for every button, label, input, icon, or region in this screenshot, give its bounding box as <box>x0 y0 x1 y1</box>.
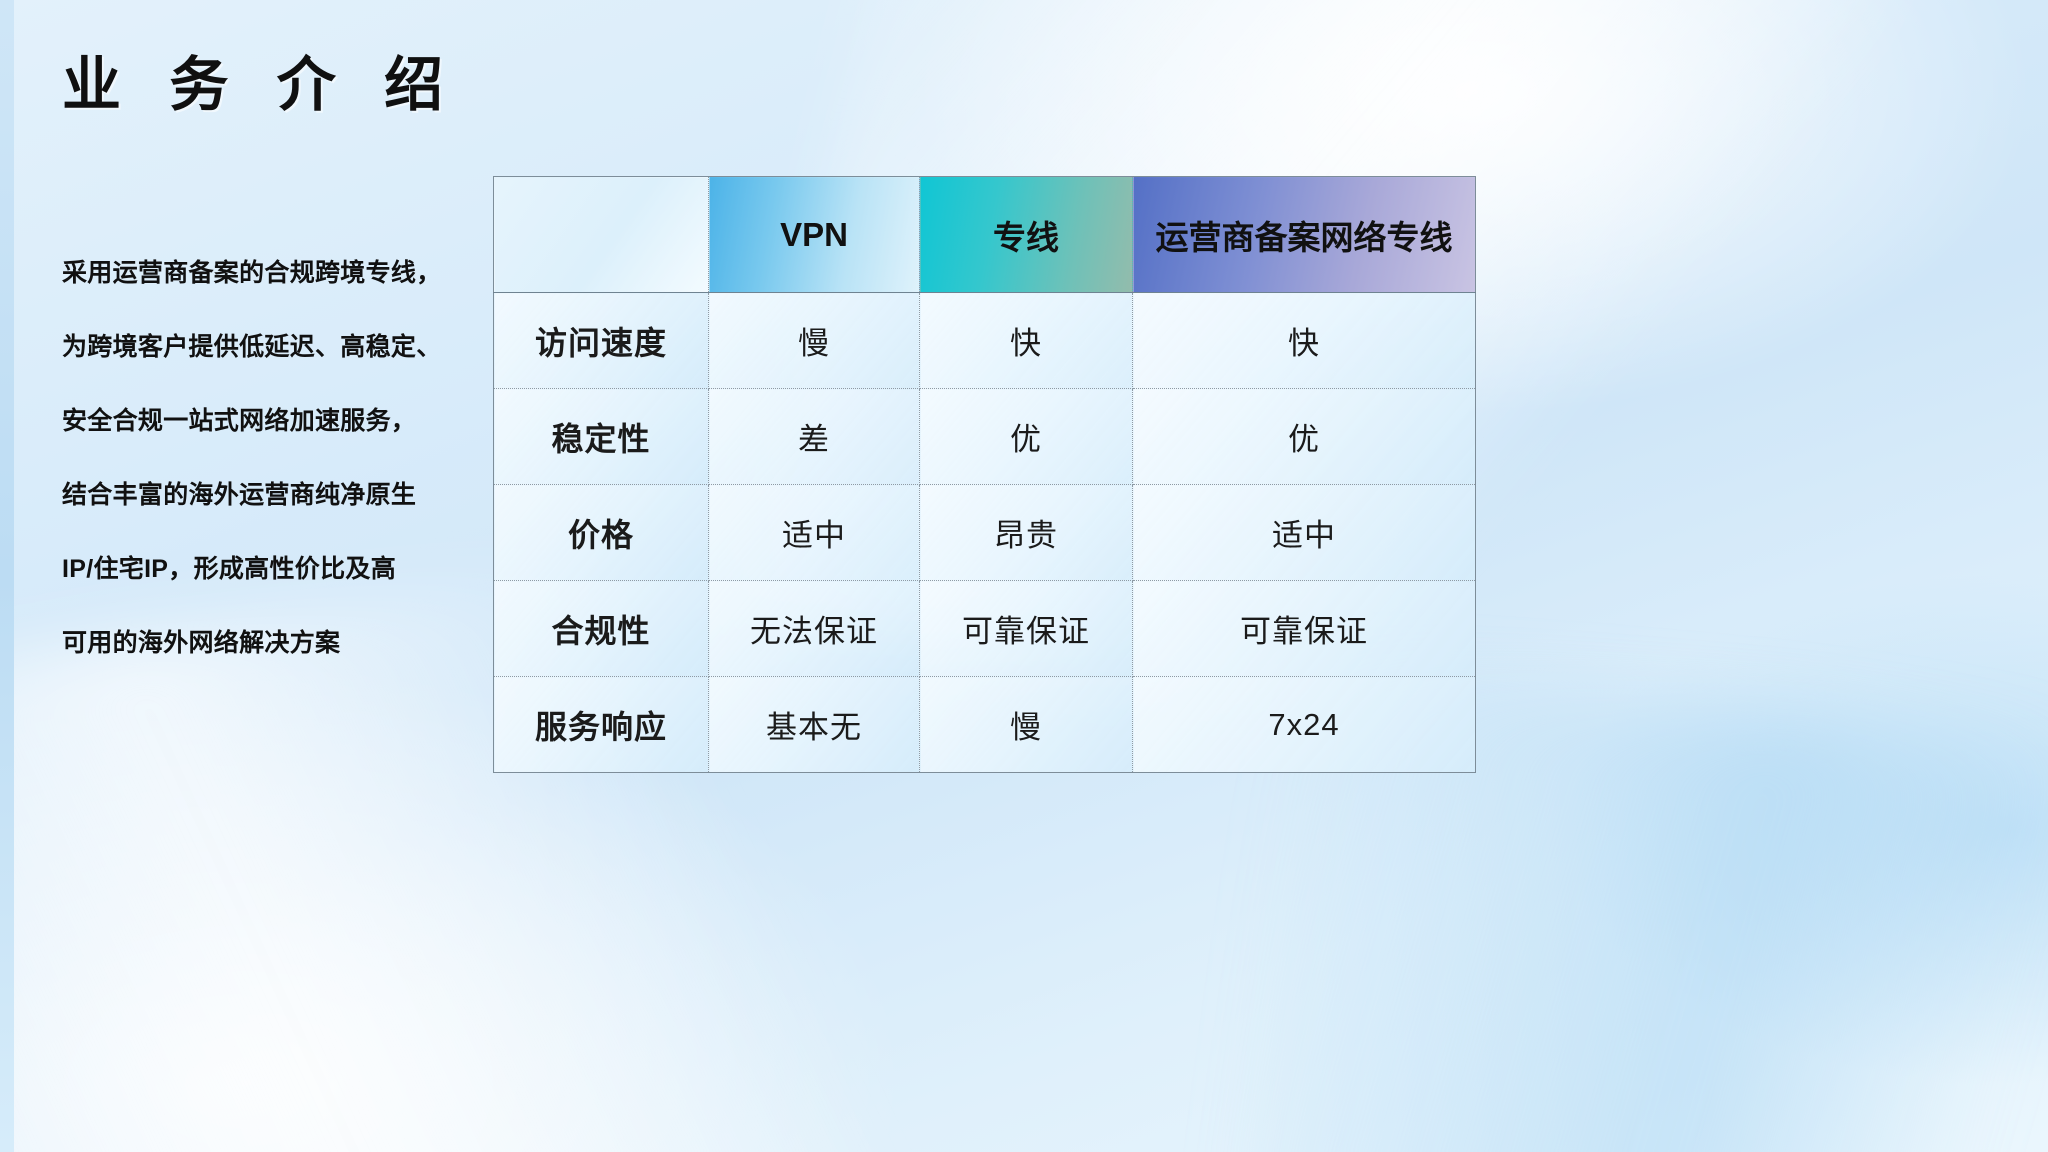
body-copy-line: 可用的海外网络解决方案 <box>62 606 480 680</box>
body-copy-line: 为跨境客户提供低延迟、高稳定、 <box>62 310 480 384</box>
cell-vpn-service-response: 基本无 <box>709 677 920 773</box>
table-row: 价格 适中 昂贵 适中 <box>494 485 1476 581</box>
comparison-table: VPN 专线 运营商备案网络专线 访问速度 慢 快 快 稳定性 差 优 优 价格… <box>493 176 1476 773</box>
body-copy-block: 采用运营商备案的合规跨境专线， 为跨境客户提供低延迟、高稳定、 安全合规一站式网… <box>62 236 480 680</box>
body-copy-line: 安全合规一站式网络加速服务， <box>62 384 480 458</box>
cell-registered-service-response: 7x24 <box>1133 677 1476 773</box>
table-body: 访问速度 慢 快 快 稳定性 差 优 优 价格 适中 昂贵 适中 合规性 无法保… <box>494 293 1476 773</box>
body-copy-line: IP/住宅IP，形成高性价比及高 <box>62 532 480 606</box>
cell-vpn-compliance: 无法保证 <box>709 581 920 677</box>
column-header-registered-line: 运营商备案网络专线 <box>1133 177 1476 293</box>
cell-registered-stability: 优 <box>1133 389 1476 485</box>
row-label-stability: 稳定性 <box>494 389 709 485</box>
slide-canvas: 业 务 介 绍 采用运营商备案的合规跨境专线， 为跨境客户提供低延迟、高稳定、 … <box>0 0 2048 1152</box>
row-label-price: 价格 <box>494 485 709 581</box>
cell-vpn-access-speed: 慢 <box>709 293 920 389</box>
table-header-row: VPN 专线 运营商备案网络专线 <box>494 177 1476 293</box>
cell-registered-compliance: 可靠保证 <box>1133 581 1476 677</box>
cell-registered-price: 适中 <box>1133 485 1476 581</box>
table-row: 稳定性 差 优 优 <box>494 389 1476 485</box>
cell-line-compliance: 可靠保证 <box>920 581 1133 677</box>
table-row: 合规性 无法保证 可靠保证 可靠保证 <box>494 581 1476 677</box>
row-label-access-speed: 访问速度 <box>494 293 709 389</box>
cell-line-access-speed: 快 <box>920 293 1133 389</box>
cell-vpn-stability: 差 <box>709 389 920 485</box>
cell-line-price: 昂贵 <box>920 485 1133 581</box>
cell-line-service-response: 慢 <box>920 677 1133 773</box>
page-title: 业 务 介 绍 <box>62 52 459 120</box>
table-row: 访问速度 慢 快 快 <box>494 293 1476 389</box>
body-copy-line: 采用运营商备案的合规跨境专线， <box>62 236 480 310</box>
cell-vpn-price: 适中 <box>709 485 920 581</box>
column-header-dedicated-line: 专线 <box>920 177 1133 293</box>
table-header: VPN 专线 运营商备案网络专线 <box>494 177 1476 293</box>
cell-registered-access-speed: 快 <box>1133 293 1476 389</box>
row-label-service-response: 服务响应 <box>494 677 709 773</box>
row-label-compliance: 合规性 <box>494 581 709 677</box>
body-copy-line: 结合丰富的海外运营商纯净原生 <box>62 458 480 532</box>
cell-line-stability: 优 <box>920 389 1133 485</box>
table-row: 服务响应 基本无 慢 7x24 <box>494 677 1476 773</box>
column-header-blank <box>494 177 709 293</box>
column-header-vpn: VPN <box>709 177 920 293</box>
left-edge-accent-bar <box>0 0 14 1152</box>
